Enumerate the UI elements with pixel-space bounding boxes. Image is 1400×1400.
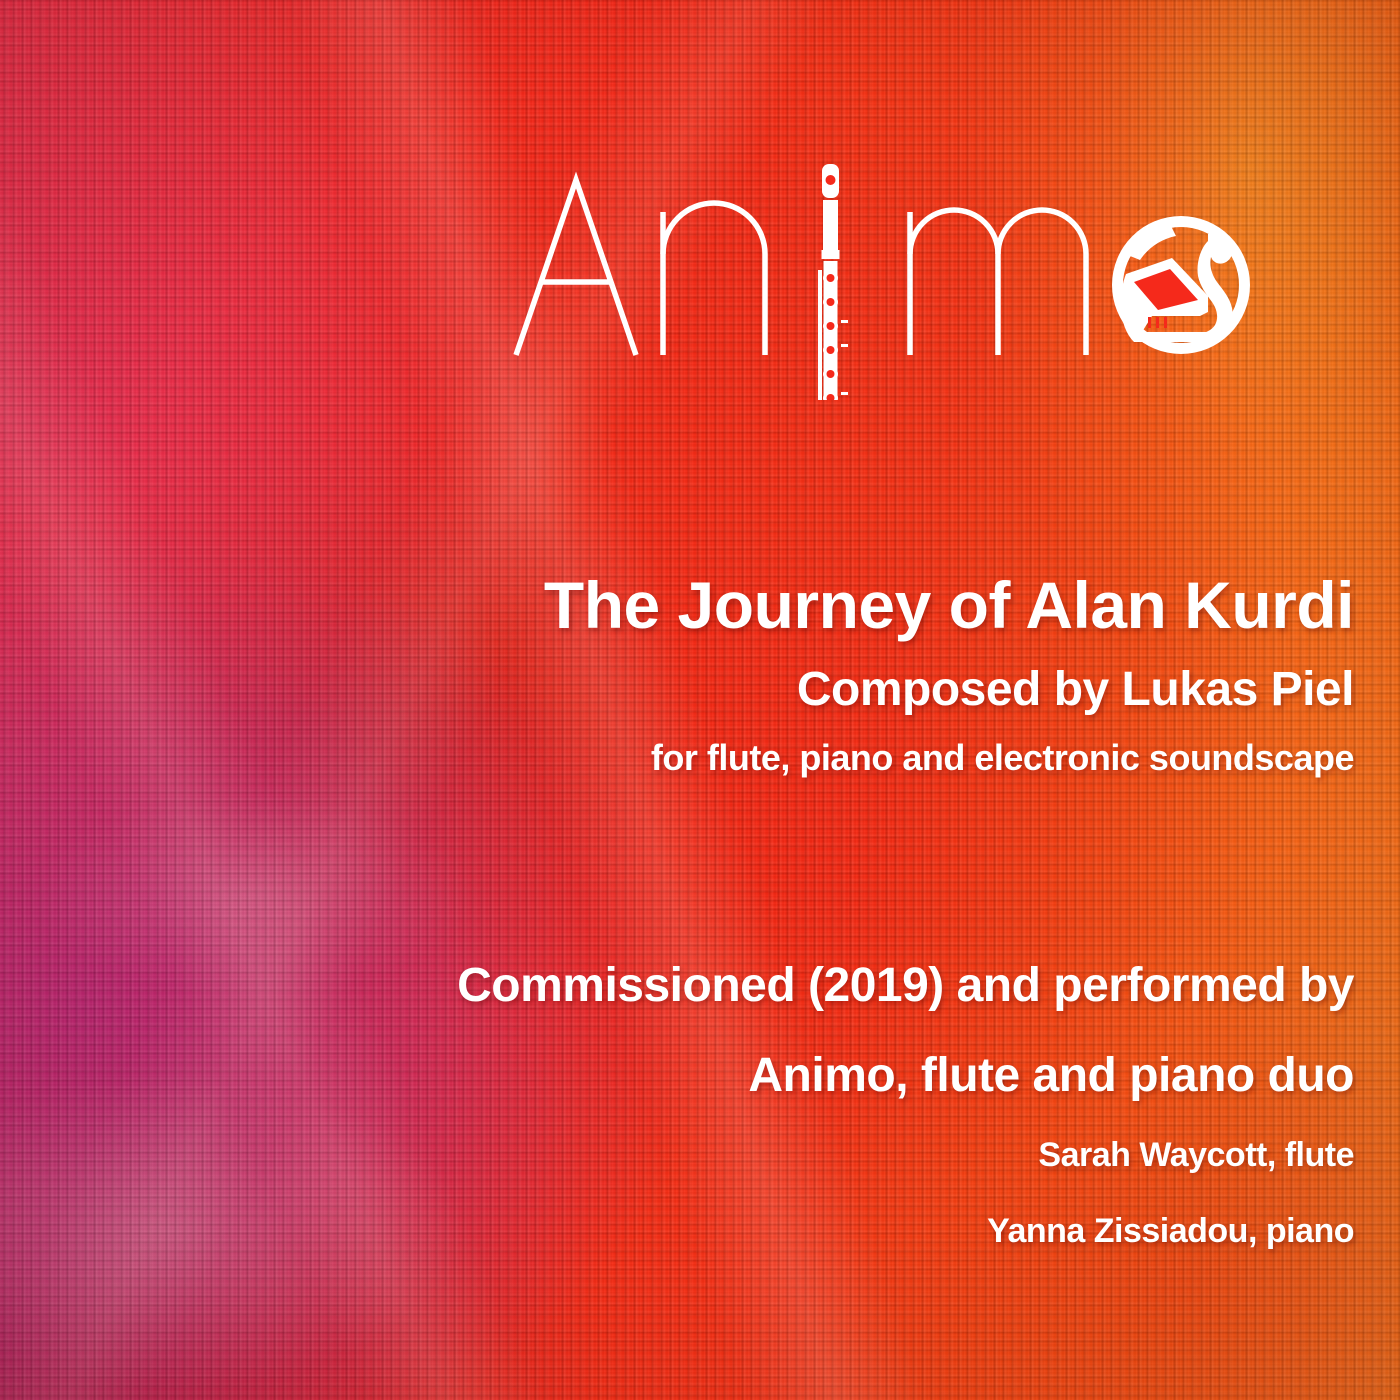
piano-circle-icon <box>1112 216 1250 354</box>
title-block: The Journey of Alan Kurdi Composed by Lu… <box>154 572 1354 776</box>
logo-letter-n-icon <box>663 203 765 355</box>
commission-line-2: Animo, flute and piano duo <box>154 1052 1354 1100</box>
album-cover: The Journey of Alan Kurdi Composed by Lu… <box>0 0 1400 1400</box>
performer-flute: Sarah Waycott, flute <box>154 1138 1354 1172</box>
logo-letter-a-icon <box>516 180 636 355</box>
commission-block: Commissioned (2019) and performed by Ani… <box>154 962 1354 1100</box>
performer-piano: Yanna Zissiadou, piano <box>154 1214 1354 1248</box>
work-title: The Journey of Alan Kurdi <box>154 572 1354 638</box>
composer-credit: Composed by Lukas Piel <box>154 666 1354 714</box>
animo-logo <box>500 150 1260 400</box>
commission-line-1: Commissioned (2019) and performed by <box>154 962 1354 1010</box>
logo-letter-m-icon <box>910 210 1086 355</box>
flute-icon <box>818 164 848 400</box>
performers-block: Sarah Waycott, flute Yanna Zissiadou, pi… <box>154 1138 1354 1248</box>
instrumentation-line: for flute, piano and electronic soundsca… <box>154 740 1354 776</box>
